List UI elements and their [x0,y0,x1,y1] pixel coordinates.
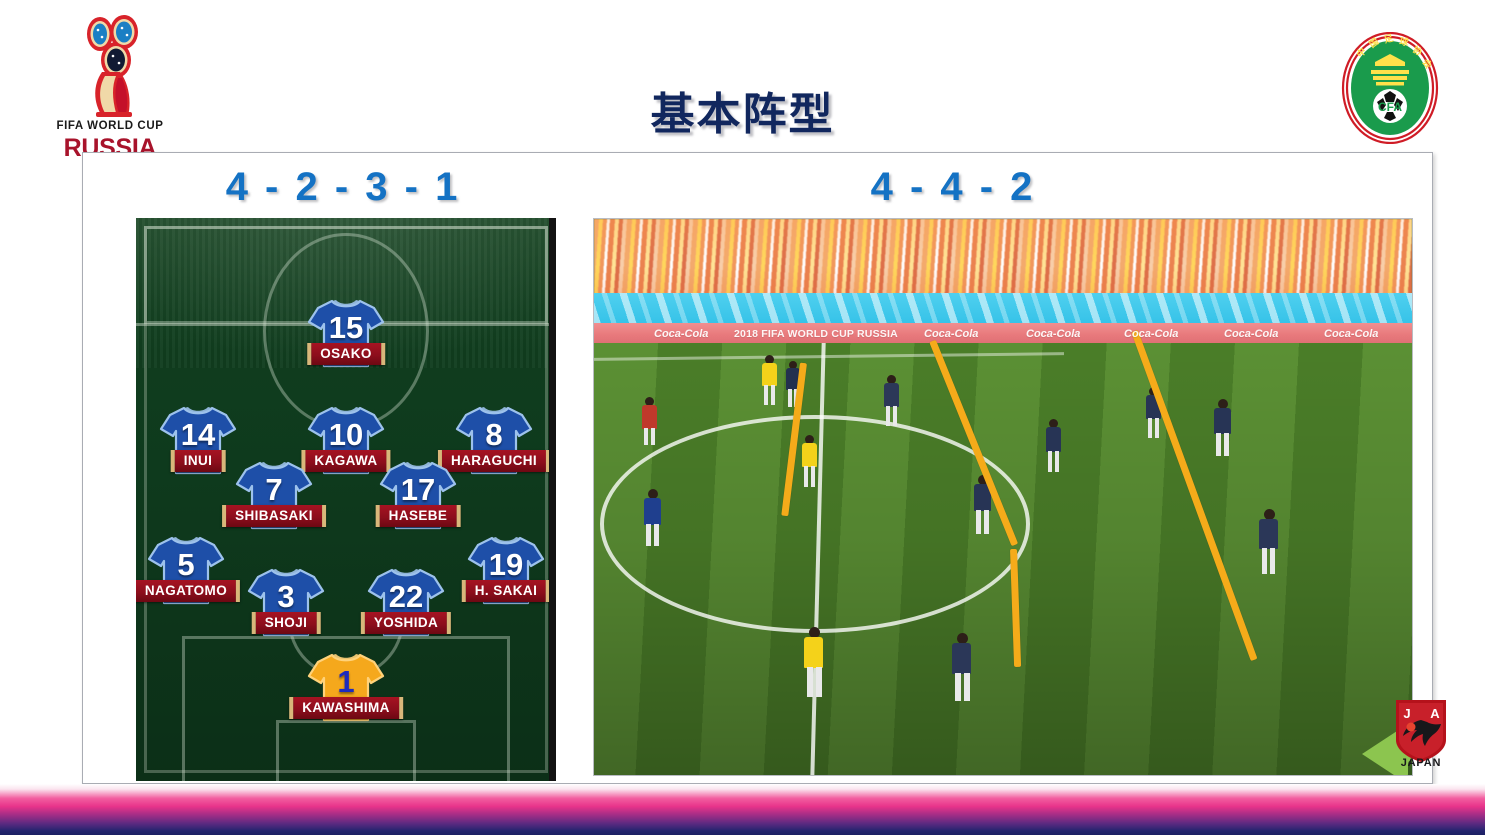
jfa-letter-a: A [1430,706,1440,721]
ad-board-sponsor-text: Coca-Cola [924,326,978,342]
formation-player-shoji: 3SHOJI [244,565,328,639]
formation-diagram: 15OSAKO 14INUI 10KAGAWA 8HARAGUCHI 7SHIB… [136,218,556,781]
content-frame: 4 - 2 - 3 - 1 4 - 4 - 2 15OSAKO 14INUI 1… [82,152,1433,784]
formation-label-right: 4 - 4 - 2 [603,165,1303,210]
formation-player-nagatomo: 5NAGATOMO [144,533,228,607]
decorative-bottom-bar [0,784,1485,835]
formation-player-kawashima: 1KAWASHIMA [304,650,388,724]
jersey-number: 5 [144,549,228,580]
player-nameplate: INUI [171,450,226,472]
ad-board-sponsor-text: Coca-Cola [1026,326,1080,342]
jersey-number: 19 [464,549,548,580]
jersey-number: 1 [304,666,388,697]
player-nameplate: H. SAKAI [462,580,550,602]
player-nameplate: NAGATOMO [136,580,240,602]
formation-player-haraguchi: 8HARAGUCHI [452,403,536,477]
jersey-number: 15 [304,312,388,343]
player-nameplate: OSAKO [307,343,385,365]
jersey-number: 7 [232,474,316,505]
player-nameplate: SHOJI [252,612,321,634]
ad-board-tournament-text: 2018 FIFA WORLD CUP RUSSIA [734,326,898,342]
jersey-number: 10 [304,419,388,450]
slide-header: FIFA WORLD CUP RUSSIA 2018 基本阵型 CFA 中 国 … [0,0,1485,152]
pitch-goal-box [276,720,416,781]
ad-board-sponsor-text: Coca-Cola [1224,326,1278,342]
jersey-number: 14 [156,419,240,450]
player-nameplate: KAWASHIMA [289,697,403,719]
formation-player-shibasaki: 7SHIBASAKI [232,458,316,532]
formation-player-h-sakai: 19H. SAKAI [464,533,548,607]
chinese-football-association-logo: CFA 中 国 足 球 协 会 [1341,32,1439,144]
formation-label-left: 4 - 2 - 3 - 1 [153,165,533,210]
jersey-number: 3 [244,581,328,612]
player-nameplate: YOSHIDA [361,612,451,634]
formation-player-yoshida: 22YOSHIDA [364,565,448,639]
jersey-number: 17 [376,474,460,505]
formation-player-hasebe: 17HASEBE [376,458,460,532]
jersey-number: 22 [364,581,448,612]
ad-board-sponsor-text: Coca-Cola [1324,326,1378,342]
ad-board-sponsor-text: Coca-Cola [654,326,708,342]
player-nameplate: SHIBASAKI [222,505,326,527]
player-nameplate: HASEBE [376,505,461,527]
advertising-board [594,323,1412,345]
jersey-number: 8 [452,419,536,450]
jfa-country-text: JAPAN [1401,757,1441,768]
japan-football-association-logo: J A JAPAN [1390,696,1452,768]
formation-player-inui: 14INUI [156,403,240,477]
page-title: 基本阵型 [0,78,1485,142]
crowd-shading [594,219,1412,297]
formation-player-osako: 15OSAKO [304,296,388,370]
stadium-barrier [594,293,1412,325]
match-photo: Coca-Cola2018 FIFA WORLD CUP RUSSIACoca-… [593,218,1413,776]
ad-board-sponsor-text: Coca-Cola [1124,326,1178,342]
jfa-letter-j: J [1403,706,1410,721]
cfa-logo-text: CFA [1378,100,1402,114]
